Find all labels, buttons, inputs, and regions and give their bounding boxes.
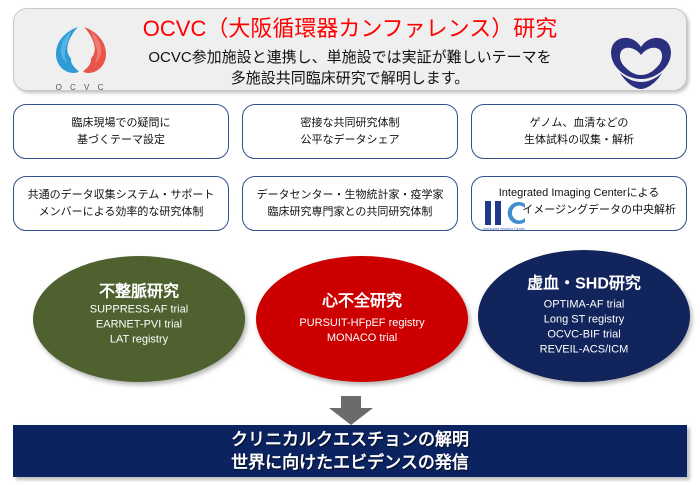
research-ellipse-arrhythmia: 不整脈研究 SUPPRESS-AF trial EARNET-PVI trial…	[33, 256, 245, 382]
feature-box-data-center: データセンター・生物統計家・疫学家 臨床研究専門家との共同研究体制	[242, 176, 458, 231]
feature-box-data-share: 密接な共同研究体制 公平なデータシェア	[242, 104, 458, 159]
feature-box-text: 密接な共同研究体制 公平なデータシェア	[301, 115, 400, 149]
feature-box-biospecimen: ゲノム、血清などの 生体試料の収集・解析	[471, 104, 687, 159]
research-area-title: 心不全研究	[256, 292, 468, 312]
page-title: OCVC（大阪循環器カンファレンス）研究	[14, 16, 686, 42]
research-ellipse-ischemia-shd: 虚血・SHD研究 OPTIMA-AF trial Long ST registr…	[478, 250, 690, 382]
iic-logo-caption: Integrated Imaging Center	[483, 221, 525, 238]
outcome-banner-text: クリニカルクエスチョンの解明 世界に向けたエビデンスの発信	[231, 428, 469, 474]
research-area-trials: PURSUIT-HFpEF registry MONACO trial	[256, 316, 468, 346]
osaka-university-logo	[608, 33, 674, 91]
research-ellipse-heart-failure: 心不全研究 PURSUIT-HFpEF registry MONACO tria…	[256, 256, 468, 382]
research-area-title: 不整脈研究	[33, 283, 245, 303]
research-area-trials: SUPPRESS-AF trial EARNET-PVI trial LAT r…	[33, 303, 245, 348]
header-subtitle: OCVC参加施設と連携し、単施設では実証が難しいテーマを 多施設共同臨床研究で解…	[14, 47, 686, 89]
feature-box-text: データセンター・生物統計家・疫学家 臨床研究専門家との共同研究体制	[257, 187, 444, 221]
research-area-trials: OPTIMA-AF trial Long ST registry OCVC-BI…	[478, 298, 690, 358]
feature-box-text: 臨床現場での疑問に 基づくテーマ設定	[72, 115, 171, 149]
outcome-banner: クリニカルクエスチョンの解明 世界に向けたエビデンスの発信	[13, 425, 687, 477]
feature-box-imaging-center: Integrated Imaging Centerによる イメージングデータの中…	[471, 176, 687, 231]
header-card: O C V C OCVC（大阪循環器カンファレンス）研究 OCVC参加施設と連携…	[13, 8, 687, 91]
research-area-title: 虚血・SHD研究	[478, 275, 690, 295]
feature-box-theme-setting: 臨床現場での疑問に 基づくテーマ設定	[13, 104, 229, 159]
feature-box-data-system: 共通のデータ収集システム・サポート メンバーによる効率的な研究体制	[13, 176, 229, 231]
feature-box-text: ゲノム、血清などの 生体試料の収集・解析	[524, 115, 634, 149]
feature-box-text: 共通のデータ収集システム・サポート メンバーによる効率的な研究体制	[28, 187, 215, 221]
down-arrow-icon	[327, 396, 375, 426]
